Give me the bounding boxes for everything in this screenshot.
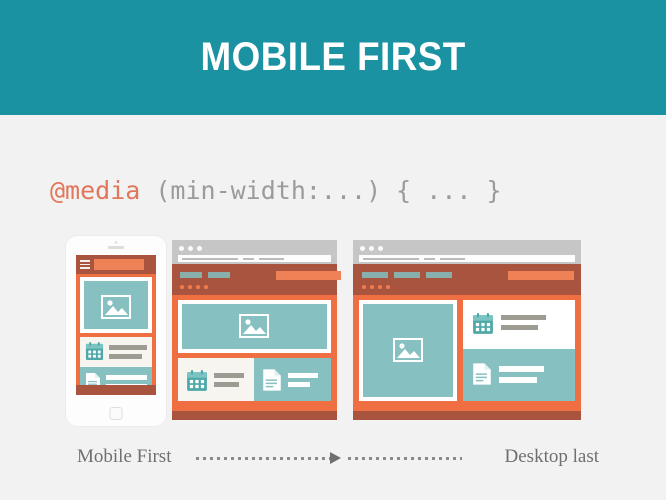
tablet-card-document	[254, 358, 331, 401]
phone-mockup	[66, 236, 166, 426]
phone-card-calendar	[80, 337, 152, 367]
phone-footer-bar	[76, 385, 156, 395]
desktop-body	[353, 295, 581, 411]
tablet-hero-image	[182, 304, 327, 349]
text-line	[501, 315, 546, 320]
tablet-navbar	[172, 264, 337, 295]
phone-navbar	[76, 255, 156, 274]
nav-item[interactable]	[180, 272, 202, 278]
tablet-body	[172, 295, 337, 411]
media-query-code: @media (min-width:...) { ... }	[50, 176, 502, 205]
phone-camera-icon	[115, 241, 118, 244]
window-dot-minimize-icon[interactable]	[188, 246, 193, 251]
window-dot-maximize-icon[interactable]	[197, 246, 202, 251]
nav-indicator-dot[interactable]	[196, 285, 200, 289]
calendar-icon	[85, 342, 104, 361]
slide-root: MOBILE FIRST @media (min-width:...) { ..…	[0, 0, 666, 500]
photo-icon	[101, 295, 131, 319]
code-rest: (min-width:...) { ... }	[140, 176, 501, 205]
desktop-card-calendar	[463, 300, 575, 349]
browser-chrome	[353, 240, 581, 264]
nav-cta-button[interactable]	[276, 271, 341, 280]
nav-indicator-dot[interactable]	[378, 285, 382, 289]
text-line	[214, 382, 239, 387]
nav-item[interactable]	[362, 272, 388, 278]
arrow-right-triangle-icon	[330, 452, 341, 464]
browser-url-bar[interactable]	[359, 255, 575, 262]
desktop-navbar	[353, 264, 581, 295]
phone-speaker	[108, 246, 124, 249]
tablet-footer-bar	[172, 411, 337, 420]
header-band: MOBILE FIRST	[0, 0, 666, 115]
text-line	[499, 366, 544, 372]
hamburger-icon[interactable]	[80, 260, 90, 269]
phone-hero-panel	[80, 277, 152, 333]
window-dot-close-icon[interactable]	[360, 246, 365, 251]
browser-url-bar[interactable]	[178, 255, 331, 262]
phone-home-button[interactable]	[110, 407, 123, 420]
text-line	[499, 377, 537, 383]
nav-cta-button[interactable]	[508, 271, 574, 280]
text-line	[109, 354, 142, 359]
caption-dotted-line-left	[196, 457, 330, 460]
text-line	[288, 382, 310, 387]
phone-logo-bar	[94, 259, 144, 270]
text-line	[501, 325, 538, 330]
text-line	[288, 373, 318, 378]
code-at-media: @media	[50, 176, 140, 205]
window-dot-close-icon[interactable]	[179, 246, 184, 251]
window-dot-minimize-icon[interactable]	[369, 246, 374, 251]
nav-indicator-dot[interactable]	[370, 285, 374, 289]
nav-item[interactable]	[394, 272, 420, 278]
nav-indicator-dot[interactable]	[204, 285, 208, 289]
document-icon	[262, 368, 282, 392]
caption-dotted-line-right	[348, 457, 462, 460]
caption-right-label: Desktop last	[505, 446, 599, 468]
caption-row: Mobile First Desktop last	[0, 446, 666, 472]
text-line	[106, 375, 147, 380]
nav-indicator-dot[interactable]	[362, 285, 366, 289]
mockup-row	[0, 236, 666, 426]
calendar-icon	[186, 370, 208, 392]
desktop-hero-panel	[359, 300, 457, 401]
window-dot-maximize-icon[interactable]	[378, 246, 383, 251]
nav-indicator-dot[interactable]	[386, 285, 390, 289]
caption-left-label: Mobile First	[77, 446, 171, 468]
photo-icon	[239, 314, 269, 338]
browser-chrome	[172, 240, 337, 264]
document-icon	[472, 362, 492, 386]
desktop-hero-image	[363, 304, 453, 397]
photo-icon	[393, 338, 423, 362]
tablet-hero-panel	[178, 300, 331, 353]
nav-indicator-dot[interactable]	[188, 285, 192, 289]
tablet-mockup	[172, 240, 337, 420]
tablet-card-calendar	[178, 358, 254, 401]
phone-hero-image	[84, 281, 148, 329]
phone-screen	[76, 255, 156, 395]
text-line	[109, 345, 147, 350]
desktop-card-document	[463, 349, 575, 401]
text-line	[214, 373, 244, 378]
page-title: MOBILE FIRST	[200, 35, 465, 80]
nav-indicator-dot[interactable]	[180, 285, 184, 289]
nav-item[interactable]	[208, 272, 230, 278]
desktop-mockup	[353, 240, 581, 420]
nav-item[interactable]	[426, 272, 452, 278]
calendar-icon	[472, 313, 494, 335]
desktop-footer-bar	[353, 411, 581, 420]
